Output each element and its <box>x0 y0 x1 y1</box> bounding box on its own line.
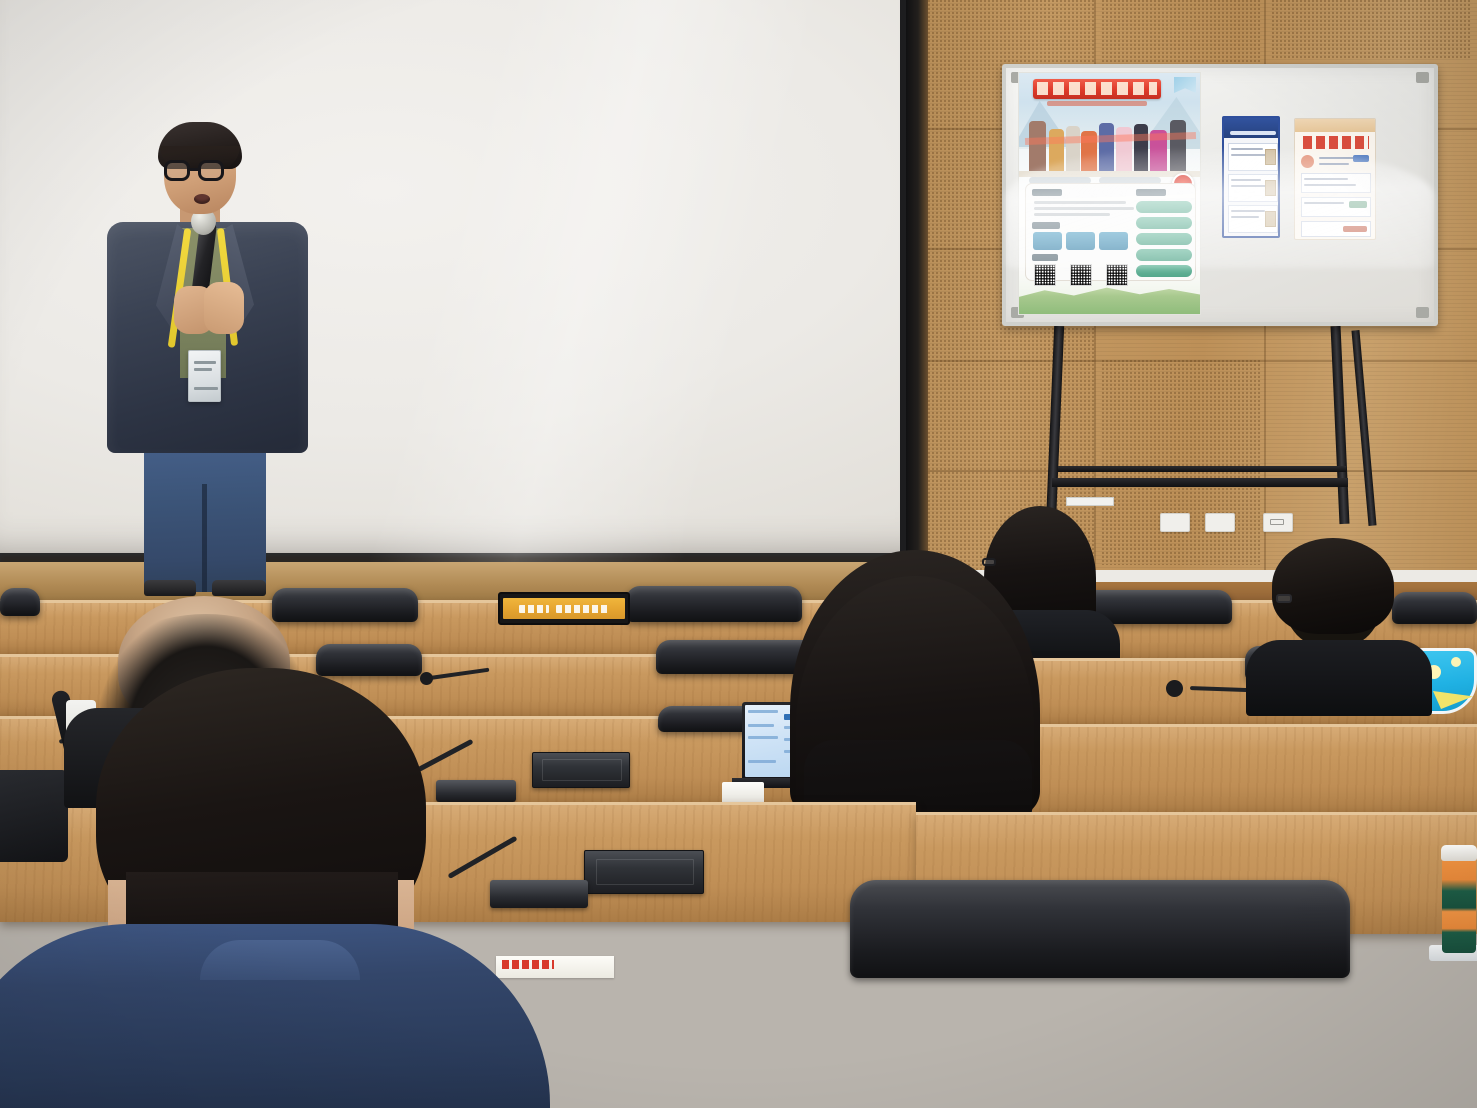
chair-r2-a[interactable] <box>316 644 422 676</box>
easel-marker-tray <box>1066 497 1114 506</box>
camera-bag <box>0 770 68 862</box>
whiteboard-glare <box>1006 150 1434 268</box>
mic-head-r2-a[interactable] <box>420 672 433 685</box>
board-clip-br <box>1416 307 1429 318</box>
presenter-shoe-left <box>144 580 196 596</box>
presenter <box>100 124 315 589</box>
chair-r1-a[interactable] <box>0 588 40 616</box>
blue-doc-title <box>1230 131 1276 135</box>
presenter-shoe-right <box>212 580 266 596</box>
port-icon <box>1270 519 1284 525</box>
orange-doc-header <box>1295 119 1375 132</box>
glasses-lens-right <box>198 160 224 181</box>
chair-r1-e[interactable] <box>1392 592 1477 624</box>
wall-plate-1[interactable] <box>1160 513 1190 532</box>
network-port-plate[interactable] <box>1263 513 1293 532</box>
nameplate-holder-r3-a[interactable] <box>532 752 630 788</box>
easel-crossbar-upper <box>1058 466 1346 472</box>
wall-plate-2[interactable] <box>1205 513 1235 532</box>
chair-r1-c[interactable] <box>626 586 802 622</box>
board-clip-tr <box>1416 72 1429 83</box>
lecture-hall-photo <box>0 0 1477 1108</box>
nameplate-holder-r4-a[interactable] <box>584 850 704 894</box>
desk-name-sign <box>498 592 630 625</box>
poster-subtitle <box>1047 101 1147 106</box>
glasses-lens-left <box>164 160 190 181</box>
cup-lid <box>1441 845 1477 861</box>
presenter-name-badge <box>188 350 221 402</box>
attendee-navy-collar <box>200 940 360 980</box>
handout-red-heading <box>502 960 554 969</box>
paper-coffee-cup <box>1441 845 1477 953</box>
chair-r4-large[interactable] <box>850 880 1350 978</box>
easel-crossbar-lower <box>1052 478 1348 487</box>
mic-head-r2-b[interactable] <box>1166 680 1183 697</box>
cup-body <box>1442 859 1476 953</box>
wall-recess-shadow <box>906 0 928 600</box>
desk-name-sign-face <box>503 598 625 619</box>
presenter-jeans-seam <box>202 484 207 592</box>
glasses-bridge <box>189 168 200 171</box>
attendee-glasses-icon <box>982 558 996 566</box>
presenter-mouth <box>194 194 210 204</box>
mic-base-r3-b[interactable] <box>436 780 516 802</box>
poster-hills-footer <box>1019 283 1201 315</box>
chair-r1-b[interactable] <box>272 588 418 622</box>
poster-title-text <box>1037 82 1157 95</box>
presenter-hand-right <box>204 282 244 334</box>
orange-doc-title <box>1303 136 1369 149</box>
paper-by-laptop <box>722 782 764 804</box>
blue-doc-header <box>1224 118 1278 138</box>
mic-base-r4-a[interactable] <box>490 880 588 908</box>
attendee-right-glasses-icon <box>1276 594 1292 603</box>
